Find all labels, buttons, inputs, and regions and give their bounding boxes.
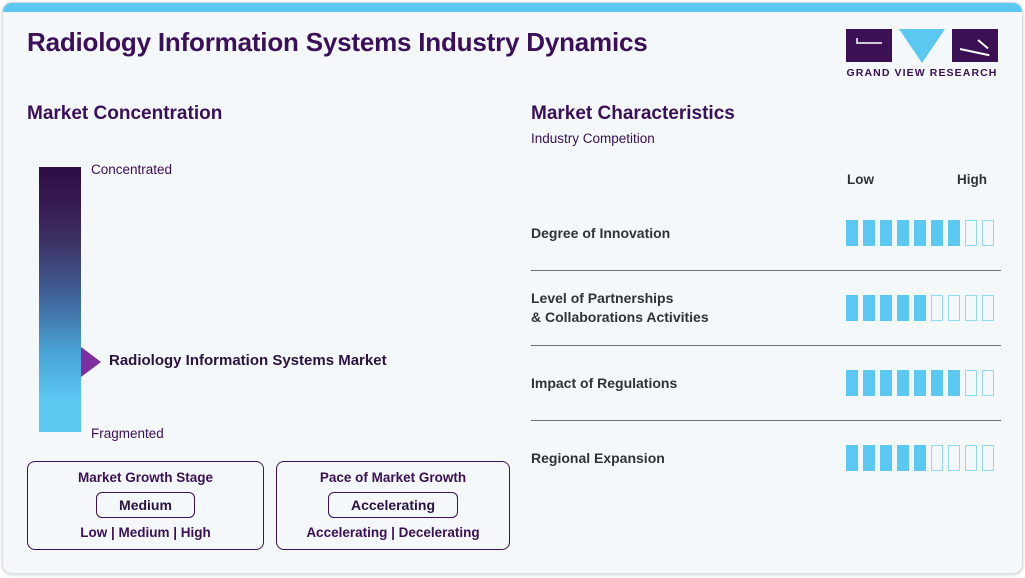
characteristic-label: Regional Expansion bbox=[531, 449, 846, 468]
concentration-scale: Concentrated Fragmented Radiology Inform… bbox=[27, 167, 522, 437]
rating-segment-filled bbox=[914, 220, 926, 246]
rating-segment-empty bbox=[982, 370, 994, 396]
rating-segment-filled bbox=[914, 370, 926, 396]
rating-segment-filled bbox=[914, 295, 926, 321]
concentration-gradient-bar bbox=[39, 167, 81, 432]
header: Radiology Information Systems Industry D… bbox=[3, 12, 1022, 90]
g-square-icon bbox=[846, 29, 892, 62]
triangle-icon bbox=[899, 29, 945, 63]
market-growth-stage-heading: Market Growth Stage bbox=[42, 470, 249, 485]
rating-segment-empty bbox=[965, 295, 977, 321]
rating-segment-filled bbox=[880, 295, 892, 321]
pace-of-market-growth-box: Pace of Market Growth Accelerating Accel… bbox=[276, 461, 510, 550]
axis-low-label: Low bbox=[847, 172, 874, 187]
rating-segment-filled bbox=[897, 220, 909, 246]
rating-segment-empty bbox=[982, 295, 994, 321]
rating-segment-empty bbox=[948, 295, 960, 321]
rating-bars bbox=[846, 295, 1001, 321]
rating-bars bbox=[846, 220, 1001, 246]
axis-high-label: High bbox=[957, 172, 987, 187]
rating-segment-empty bbox=[931, 295, 943, 321]
page-title: Radiology Information Systems Industry D… bbox=[27, 27, 648, 58]
rating-segment-filled bbox=[880, 220, 892, 246]
logo-wordmark: GRAND VIEW RESEARCH bbox=[846, 67, 998, 79]
rating-segment-filled bbox=[846, 370, 858, 396]
market-growth-stage-scale: Low | Medium | High bbox=[42, 525, 249, 540]
rating-segment-filled bbox=[897, 445, 909, 471]
rating-segment-filled bbox=[846, 295, 858, 321]
rating-segment-empty bbox=[931, 445, 943, 471]
rating-segment-filled bbox=[897, 370, 909, 396]
rating-segment-filled bbox=[880, 370, 892, 396]
market-concentration-title: Market Concentration bbox=[27, 103, 522, 125]
rating-bars bbox=[846, 370, 1001, 396]
rating-segment-filled bbox=[863, 370, 875, 396]
market-position-marker: Radiology Information Systems Market bbox=[81, 347, 101, 377]
rating-segment-filled bbox=[948, 220, 960, 246]
rating-segment-filled bbox=[846, 220, 858, 246]
characteristic-label: Degree of Innovation bbox=[531, 224, 846, 243]
market-characteristics-title: Market Characteristics bbox=[531, 103, 1001, 125]
rating-segment-filled bbox=[880, 445, 892, 471]
scale-top-label: Concentrated bbox=[91, 162, 172, 177]
rating-segment-empty bbox=[982, 445, 994, 471]
logo-marks bbox=[846, 29, 998, 62]
r-square-icon bbox=[952, 29, 998, 62]
pace-of-market-growth-value: Accelerating bbox=[328, 492, 458, 518]
market-characteristics-subtitle: Industry Competition bbox=[531, 131, 1001, 146]
rating-segment-filled bbox=[863, 445, 875, 471]
characteristics-rows: Degree of InnovationLevel of Partnership… bbox=[531, 196, 1001, 495]
rating-segment-filled bbox=[914, 445, 926, 471]
market-growth-stage-box: Market Growth Stage Medium Low | Medium … bbox=[27, 461, 264, 550]
rating-segment-filled bbox=[931, 370, 943, 396]
market-growth-stage-value: Medium bbox=[96, 492, 195, 518]
rating-segment-empty bbox=[948, 445, 960, 471]
market-position-label: Radiology Information Systems Market bbox=[109, 352, 387, 369]
infographic-card: Radiology Information Systems Industry D… bbox=[2, 2, 1023, 574]
rating-segment-empty bbox=[965, 220, 977, 246]
pace-of-market-growth-heading: Pace of Market Growth bbox=[291, 470, 495, 485]
brand-logo: GRAND VIEW RESEARCH bbox=[846, 29, 998, 79]
arrow-right-icon bbox=[81, 347, 101, 377]
market-concentration-panel: Market Concentration Concentrated Fragme… bbox=[27, 103, 522, 437]
characteristic-row: Impact of Regulations bbox=[531, 345, 1001, 420]
rating-axis: Low High bbox=[531, 172, 1001, 196]
rating-segment-filled bbox=[846, 445, 858, 471]
top-accent-bar bbox=[3, 3, 1022, 12]
market-characteristics-panel: Market Characteristics Industry Competit… bbox=[531, 103, 1001, 495]
rating-segment-filled bbox=[863, 295, 875, 321]
rating-segment-filled bbox=[897, 295, 909, 321]
rating-segment-filled bbox=[948, 370, 960, 396]
rating-bars bbox=[846, 445, 1001, 471]
rating-segment-empty bbox=[965, 370, 977, 396]
rating-segment-filled bbox=[931, 220, 943, 246]
characteristic-label: Level of Partnerships & Collaborations A… bbox=[531, 289, 846, 327]
rating-segment-empty bbox=[982, 220, 994, 246]
stat-boxes: Market Growth Stage Medium Low | Medium … bbox=[27, 461, 510, 550]
characteristic-row: Level of Partnerships & Collaborations A… bbox=[531, 270, 1001, 345]
rating-segment-empty bbox=[965, 445, 977, 471]
pace-of-market-growth-scale: Accelerating | Decelerating bbox=[291, 525, 495, 540]
rating-segment-filled bbox=[863, 220, 875, 246]
characteristic-row: Regional Expansion bbox=[531, 420, 1001, 495]
scale-bottom-label: Fragmented bbox=[91, 426, 164, 441]
characteristic-row: Degree of Innovation bbox=[531, 196, 1001, 270]
characteristic-label: Impact of Regulations bbox=[531, 374, 846, 393]
